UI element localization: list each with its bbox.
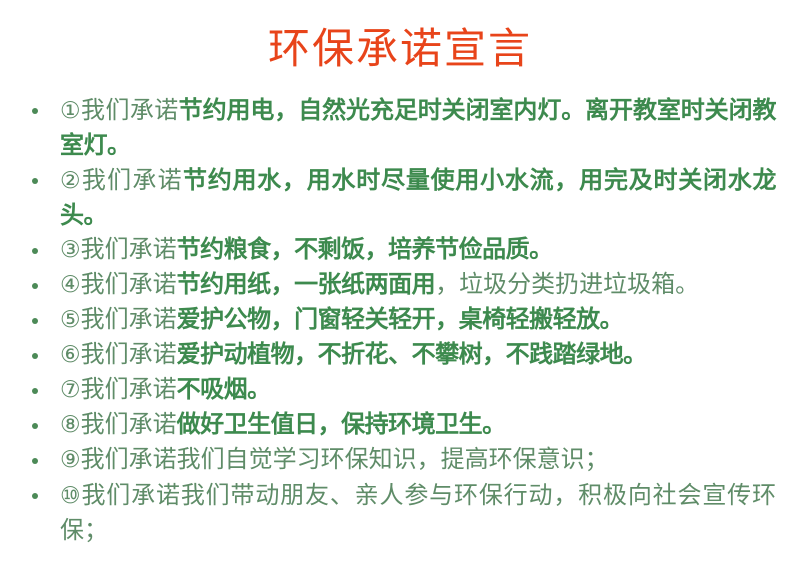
item-number: ⑩ — [60, 483, 81, 509]
list-item: ⑥我们承诺爱护动植物，不折花、不攀树，不践踏绿地。 — [0, 338, 800, 372]
bullet-dot-icon — [32, 493, 38, 499]
item-emphasis: 做好卫生值日 — [177, 410, 318, 438]
item-rest-bold: ，一张纸两面用 — [271, 270, 436, 298]
list-item: ④我们承诺节约用纸，一张纸两面用，垃圾分类扔进垃圾箱。 — [0, 268, 800, 302]
item-rest-bold: ，不折花、不攀树，不践踏绿地。 — [294, 340, 647, 368]
item-rest-regular: ，垃圾分类扔进垃圾箱。 — [435, 270, 699, 298]
item-lead: 我们承诺 — [82, 166, 183, 194]
item-lead: 我们承诺 — [81, 270, 177, 298]
item-emphasis: 节约用纸 — [177, 270, 271, 298]
list-item: ⑨我们承诺我们自觉学习环保知识，提高环保意识； — [0, 443, 800, 477]
list-item: ⑤我们承诺爱护公物，门窗轻关轻开，桌椅轻搬轻放。 — [0, 303, 800, 337]
item-number: ③ — [60, 237, 81, 263]
bullet-dot-icon — [32, 283, 38, 289]
bullet-dot-icon — [32, 423, 38, 429]
item-number: ④ — [60, 272, 81, 298]
item-number: ⑦ — [60, 377, 81, 403]
item-number: ⑧ — [60, 412, 81, 438]
list-item: ⑦我们承诺不吸烟。 — [0, 373, 800, 407]
bullet-dot-icon — [32, 458, 38, 464]
item-lead: 我们承诺 — [81, 481, 180, 509]
item-lead: 我们承诺 — [81, 340, 177, 368]
list-item: ①我们承诺节约用电，自然光充足时关闭室内灯。离开教室时关闭教室灯。 — [0, 93, 800, 162]
item-lead: 我们承诺 — [81, 96, 179, 124]
item-emphasis: 节约用电 — [179, 96, 275, 124]
item-emphasis: 爱护动植物 — [177, 340, 295, 368]
page-title: 环保承诺宣言 — [0, 24, 800, 74]
item-emphasis: 节约用水 — [183, 166, 282, 194]
item-number: ⑥ — [60, 342, 81, 368]
item-emphasis: 不吸烟。 — [177, 375, 271, 403]
item-rest-bold: ，门窗轻关轻开，桌椅轻搬轻放。 — [271, 305, 624, 333]
bullet-dot-icon — [32, 178, 38, 184]
item-rest-bold: ，不剩饭，培养节俭品质。 — [271, 235, 553, 263]
commitment-list: ①我们承诺节约用电，自然光充足时关闭室内灯。离开教室时关闭教室灯。 ②我们承诺节… — [0, 93, 800, 548]
item-number: ⑤ — [60, 307, 81, 333]
item-lead: 我们承诺 — [81, 305, 177, 333]
list-item: ⑧我们承诺做好卫生值日，保持环境卫生。 — [0, 408, 800, 442]
item-lead: 我们承诺 — [81, 410, 177, 438]
item-number: ⑨ — [60, 447, 81, 473]
list-item: ②我们承诺节约用水，用水时尽量使用小水流，用完及时关闭水龙头。 — [0, 163, 800, 232]
bullet-dot-icon — [32, 353, 38, 359]
item-number: ① — [60, 98, 81, 124]
bullet-dot-icon — [32, 248, 38, 254]
list-item: ⑩我们承诺我们带动朋友、亲人参与环保行动，积极向社会宣传环保； — [0, 478, 800, 547]
item-emphasis: 爱护公物 — [177, 305, 271, 333]
bullet-dot-icon — [32, 388, 38, 394]
item-rest-bold: ，保持环境卫生。 — [318, 410, 506, 438]
item-lead: 我们承诺 — [81, 375, 177, 403]
bullet-dot-icon — [32, 108, 38, 114]
item-lead: 我们承诺 — [81, 235, 177, 263]
item-rest-regular: 我们自觉学习环保知识，提高环保意识； — [177, 445, 609, 473]
item-number: ② — [60, 168, 82, 194]
item-emphasis: 节约粮食 — [177, 235, 271, 263]
bullet-dot-icon — [32, 318, 38, 324]
slide-canvas: 环保承诺宣言 ①我们承诺节约用电，自然光充足时关闭室内灯。离开教室时关闭教室灯。… — [0, 0, 800, 561]
list-item: ③我们承诺节约粮食，不剩饭，培养节俭品质。 — [0, 233, 800, 267]
item-lead: 我们承诺 — [81, 445, 177, 473]
